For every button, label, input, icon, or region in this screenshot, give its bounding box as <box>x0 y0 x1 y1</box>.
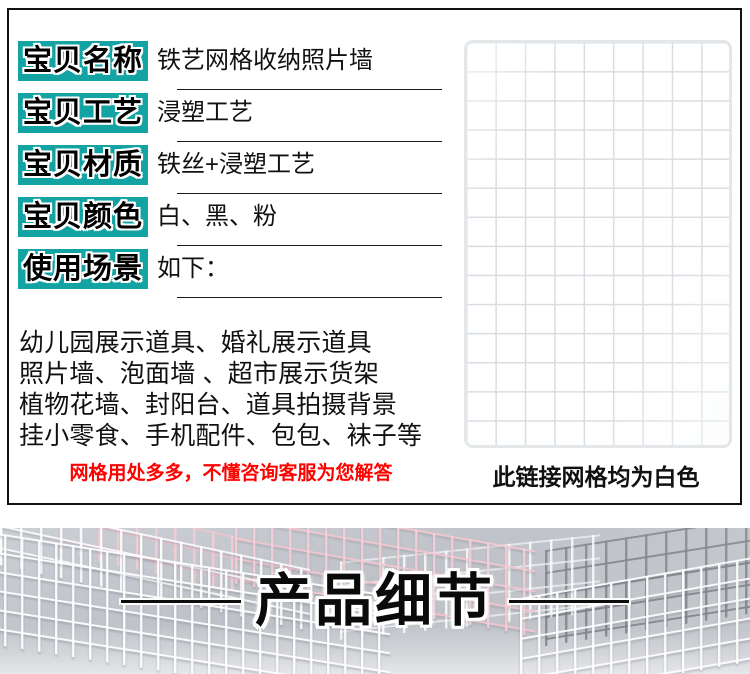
banner-title-text: 产品细节 <box>255 570 495 632</box>
spec-row: 宝贝颜色 白、黑、粉 <box>18 194 443 246</box>
rule-line-left <box>121 600 241 603</box>
usage-line: 植物花墙、封阳台、道具拍摄背景 <box>19 390 443 421</box>
spec-value: 白、黑、粉 <box>148 202 443 232</box>
usage-line: 幼儿园展示道具、婚礼展示道具 <box>19 328 443 359</box>
usage-scenario-list: 幼儿园展示道具、婚礼展示道具 照片墙、泡面墙 、超市展示货架 植物花墙、封阳台、… <box>19 328 443 452</box>
spec-value: 浸塑工艺 <box>148 98 443 128</box>
spec-row: 使用场景 如下： <box>18 246 443 298</box>
product-detail-banner: 产品细节 <box>0 528 750 674</box>
spec-row: 宝贝工艺 浸塑工艺 <box>18 90 443 142</box>
product-detail-image: 宝贝名称 铁艺网格收纳照片墙 宝贝工艺 浸塑工艺 宝贝材质 铁丝+浸塑工艺 <box>0 0 750 674</box>
spec-label: 使用场景 <box>18 249 148 289</box>
mesh-sheen-overlay <box>467 43 729 445</box>
spec-label: 宝贝材质 <box>18 145 148 185</box>
usage-line: 挂小零食、手机配件、包包、袜子等 <box>19 421 443 452</box>
spec-value: 铁丝+浸塑工艺 <box>148 150 443 180</box>
banner-title-group: 产品细节 <box>0 528 750 674</box>
usage-line: 照片墙、泡面墙 、超市展示货架 <box>19 359 443 390</box>
spec-label: 宝贝颜色 <box>18 197 148 237</box>
spec-row: 宝贝名称 铁艺网格收纳照片墙 <box>18 38 443 90</box>
customer-service-note: 网格用处多多，不懂咨询客服为您解答 <box>19 462 443 486</box>
specification-list: 宝贝名称 铁艺网格收纳照片墙 宝贝工艺 浸塑工艺 宝贝材质 铁丝+浸塑工艺 <box>18 38 443 298</box>
spec-divider <box>177 297 442 298</box>
wire-mesh-grid-icon <box>464 40 732 448</box>
spec-value: 铁艺网格收纳照片墙 <box>148 46 443 76</box>
spec-row: 宝贝材质 铁丝+浸塑工艺 <box>18 142 443 194</box>
specification-card: 宝贝名称 铁艺网格收纳照片墙 宝贝工艺 浸塑工艺 宝贝材质 铁丝+浸塑工艺 <box>7 8 742 505</box>
spec-label: 宝贝名称 <box>18 41 148 81</box>
spec-label: 宝贝工艺 <box>18 93 148 133</box>
wire-mesh-panel: 此链接网格均为白色 <box>457 32 735 497</box>
spec-value: 如下： <box>148 254 443 284</box>
rule-line-right <box>509 600 629 603</box>
mesh-color-caption: 此链接网格均为白色 <box>457 462 735 492</box>
